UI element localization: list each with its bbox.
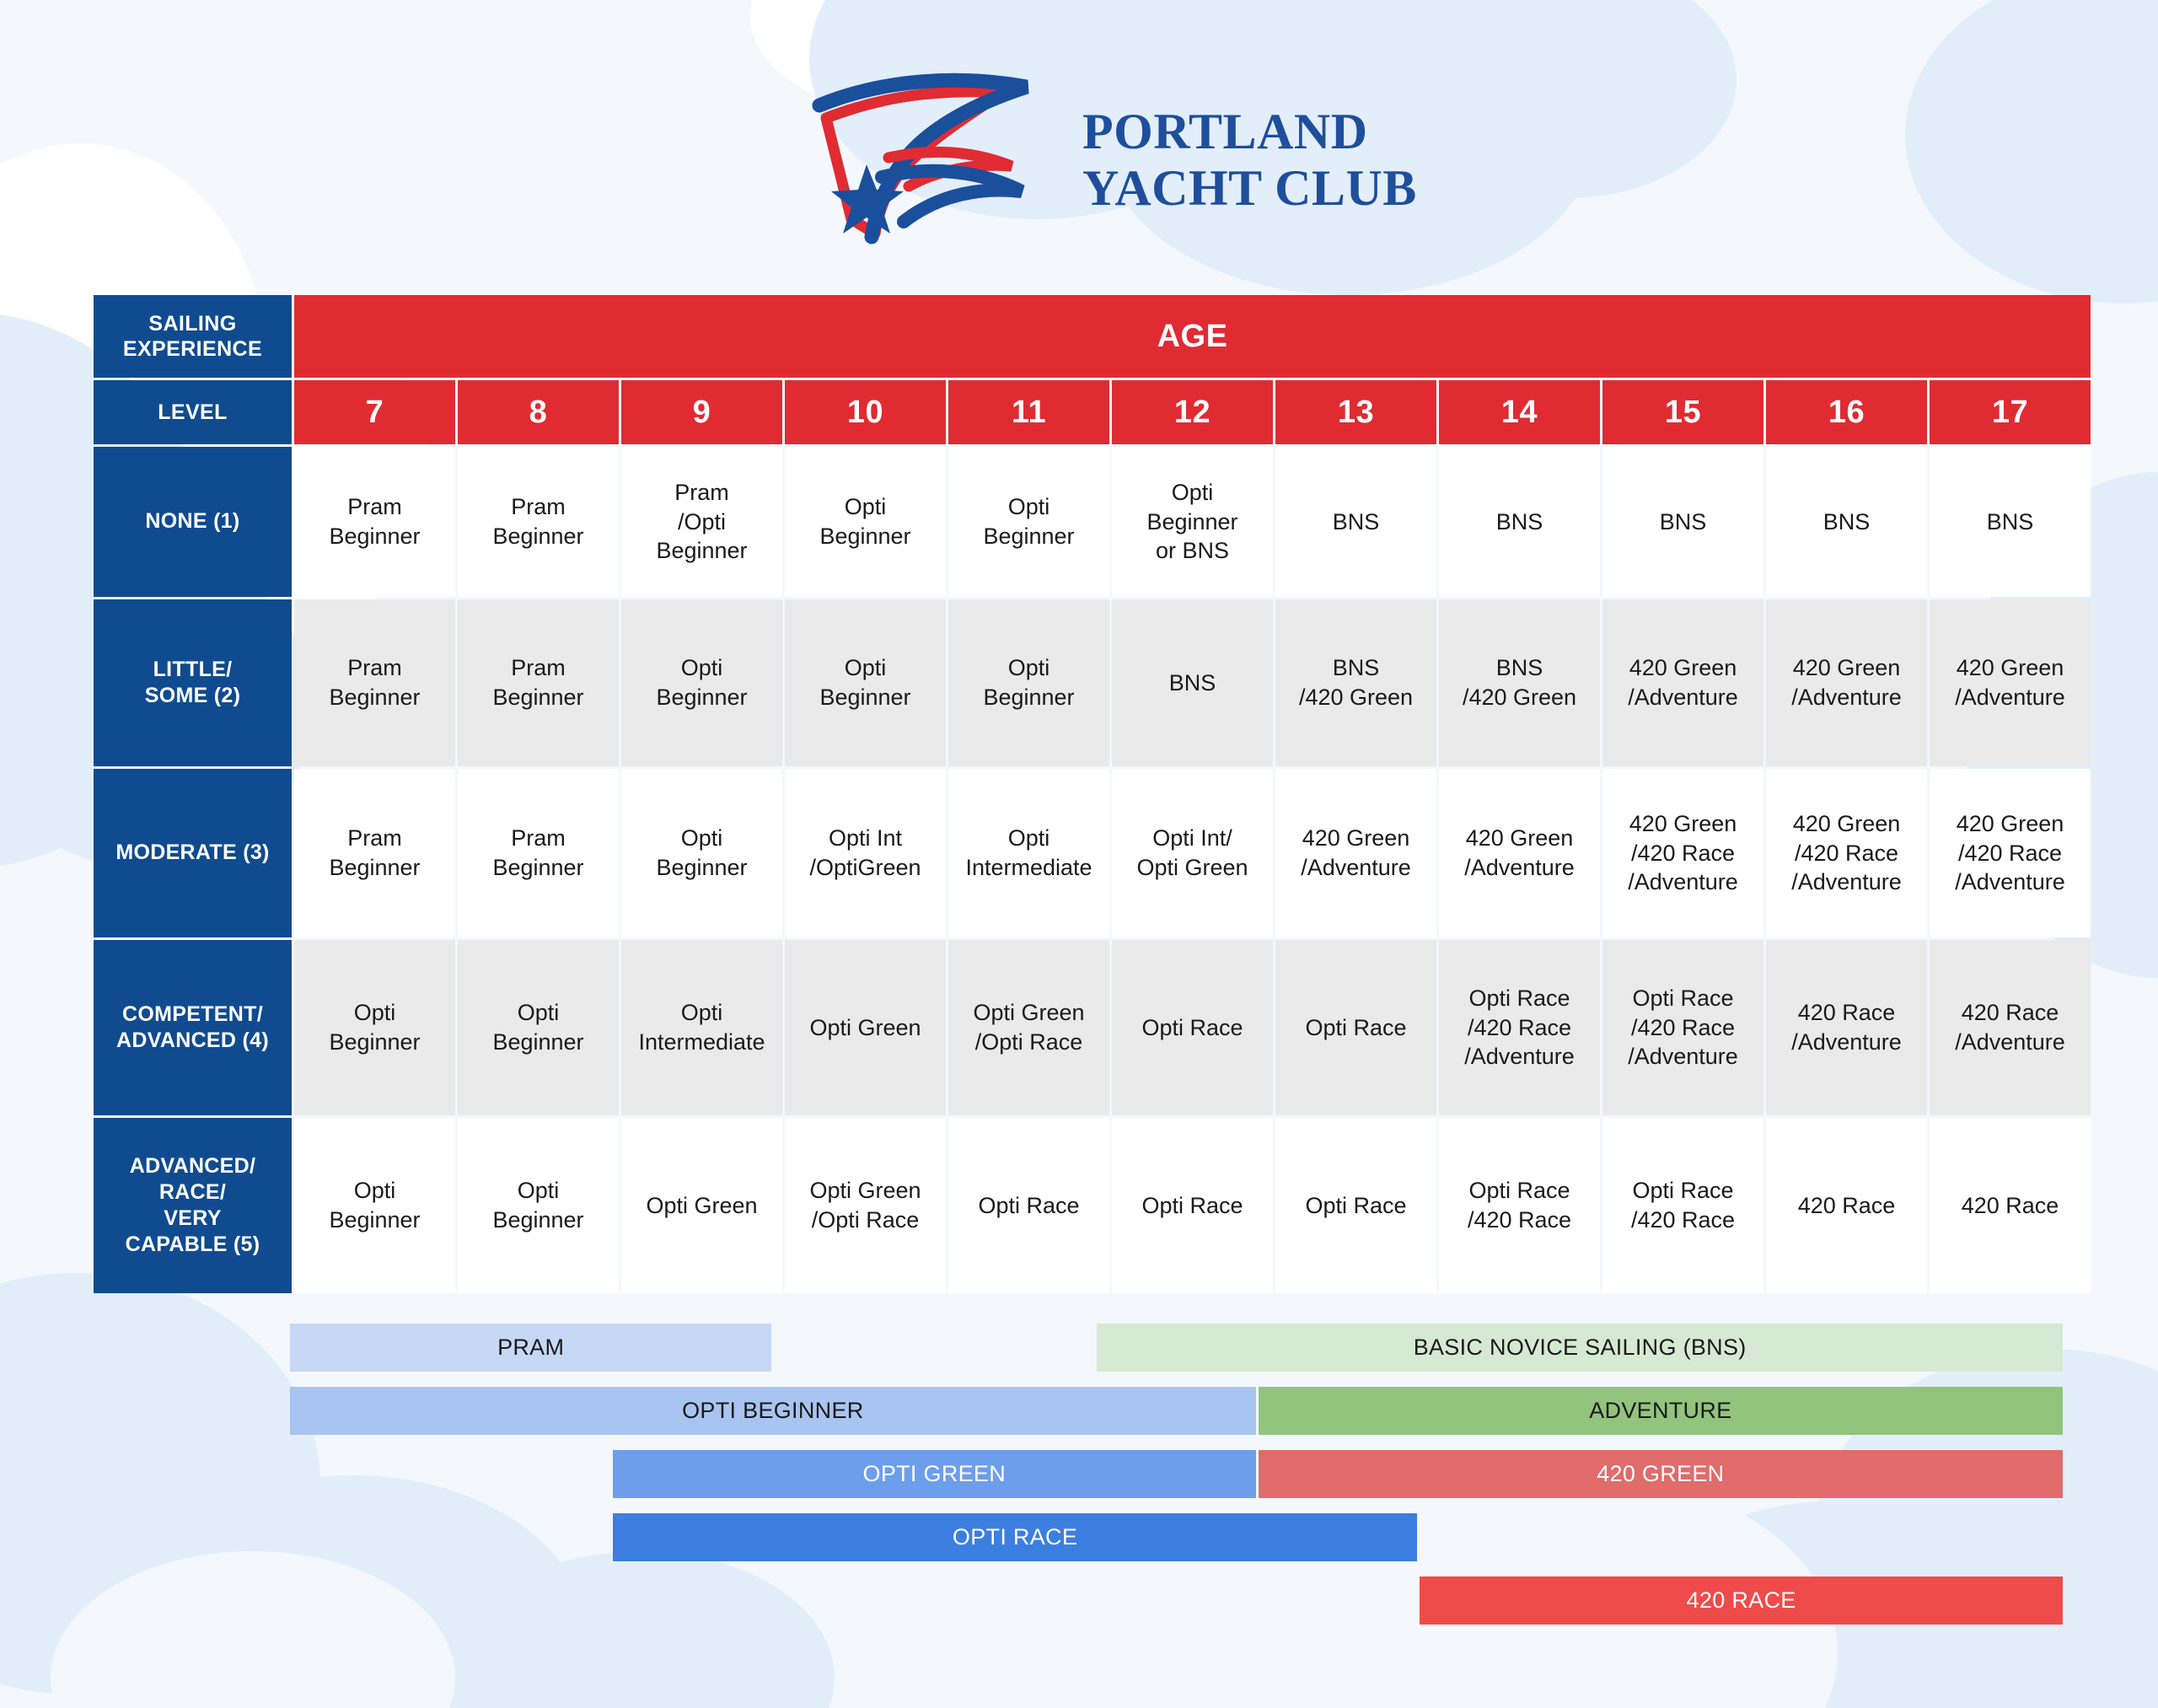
cell-line: Beginner [656, 855, 747, 880]
matrix-cell: Pram/OptiBeginner [621, 447, 782, 597]
cell-line: Opti Race [1632, 986, 1733, 1011]
age-header-17: 17 [1930, 380, 2091, 444]
legend-row: OPTI RACE [290, 1513, 2065, 1561]
matrix-cell: Opti Green/Opti Race [948, 940, 1109, 1115]
cell-line: Opti Race [1141, 1015, 1243, 1040]
matrix-cell: OptiIntermediate [948, 769, 1109, 937]
cell-line: 420 Race [1962, 1193, 2059, 1218]
cell-line: Opti Race [1141, 1193, 1243, 1218]
cell-line: /420 Race [1631, 1207, 1735, 1233]
corner-header-sailing-experience: SAILING EXPERIENCE [94, 295, 292, 378]
cell-line: Opti Int/ [1152, 825, 1232, 851]
matrix-cell: Opti Green [785, 940, 946, 1115]
cell-line: Opti [1008, 494, 1050, 519]
cell-line: Opti Green [1136, 855, 1248, 880]
brand-name-line-1: PORTLAND [1082, 104, 1417, 160]
cell-line: /Adventure [1955, 1029, 2065, 1055]
cell-line: BNS [1987, 509, 2034, 534]
cell-line: 420 Race [1962, 1000, 2059, 1025]
cell-line: /420 Race [1468, 1207, 1571, 1233]
corner-header-line-1: SAILING [148, 312, 236, 336]
legend-bar-opti-beginner: OPTI BEGINNER [290, 1387, 1256, 1435]
table-row: NONE (1)PramBeginnerPramBeginnerPram/Opt… [94, 447, 2091, 597]
brand-header: PORTLAND YACHT CLUB [801, 72, 1417, 249]
matrix-cell: BNS/420 Green [1439, 599, 1600, 766]
matrix-cell: OptiIntermediate [621, 940, 782, 1115]
matrix-cell: Opti Race/420 Race [1439, 1118, 1600, 1293]
cell-line: Beginner [492, 1207, 583, 1233]
cell-line: 420 Green [1957, 811, 2064, 836]
label-line: ADVANCED (4) [116, 1029, 269, 1052]
cell-line: Opti [1008, 655, 1050, 680]
cell-line: Opti [681, 1000, 723, 1025]
cell-line: Opti [845, 655, 887, 680]
brand-name-line-2: YACHT CLUB [1082, 160, 1417, 217]
matrix-cell: Opti Int/Opti Green [1112, 769, 1273, 937]
cell-line: /Adventure [1628, 685, 1738, 710]
cell-line: BNS [1660, 509, 1707, 534]
cell-line: 420 Green [1957, 655, 2064, 680]
table-row: ADVANCED/RACE/VERYCAPABLE (5)OptiBeginne… [94, 1118, 2091, 1293]
cell-line: 420 Green [1629, 655, 1737, 680]
cell-line: 420 Green [1302, 825, 1410, 851]
matrix-cell: PramBeginner [458, 447, 619, 597]
cell-line: Pram [347, 494, 402, 519]
matrix-cell: 420 Green/420 Race/Adventure [1602, 769, 1763, 937]
cell-line: /420 Race [1631, 1015, 1735, 1040]
matrix-cell: PramBeginner [458, 769, 619, 937]
legend-bar-label: PRAM [497, 1335, 564, 1361]
cell-line: Opti Race [1468, 986, 1570, 1011]
cell-line: /Adventure [1628, 869, 1738, 894]
cell-line: /420 Race [1631, 841, 1735, 866]
cell-line: /Adventure [1464, 1044, 1575, 1069]
cell-line: Opti Race [978, 1193, 1079, 1218]
burgee-flag-star-logo-icon [801, 72, 1054, 249]
cell-line: Pram [511, 655, 566, 680]
matrix-cell: Opti Race [1275, 940, 1436, 1115]
matrix-cell: BNS [1930, 447, 2091, 597]
matrix-cell: BNS [1112, 599, 1273, 766]
matrix-cell: Opti Green/Opti Race [785, 1118, 946, 1293]
matrix-cell: 420 Race/Adventure [1766, 940, 1927, 1115]
cell-line: Beginner [329, 685, 420, 710]
legend-bar-label: BASIC NOVICE SAILING (BNS) [1414, 1335, 1747, 1361]
cell-line: /420 Race [1795, 841, 1898, 866]
age-header-12: 12 [1112, 380, 1273, 444]
matrix-cell: 420 Green/Adventure [1275, 769, 1436, 937]
matrix-cell: OptiBeginner [948, 447, 1109, 597]
age-header-14: 14 [1439, 380, 1600, 444]
matrix-cell: OptiBeginner [785, 599, 946, 766]
matrix-cell: PramBeginner [294, 447, 455, 597]
cell-line: Beginner [329, 855, 420, 880]
experience-level-label: ADVANCED/RACE/VERYCAPABLE (5) [94, 1118, 292, 1293]
age-group-header: AGE [294, 295, 2091, 378]
cell-line: Opti Race [1305, 1193, 1406, 1218]
matrix-cell: OptiBeginner [458, 1118, 619, 1293]
experience-level-label: MODERATE (3) [94, 769, 292, 937]
cell-line: Beginner [492, 685, 583, 710]
cell-line: /420 Race [1468, 1015, 1571, 1040]
matrix-cell: 420 Green/Adventure [1602, 599, 1763, 766]
matrix-cell: Opti Race [1275, 1118, 1436, 1293]
cell-line: BNS [1333, 509, 1380, 534]
label-line: VERY [164, 1206, 221, 1230]
cell-line: BNS [1496, 655, 1543, 680]
cell-line: /420 Green [1463, 685, 1576, 710]
cell-line: Opti Int [829, 825, 902, 851]
matrix-cell: OptiBeginner [294, 940, 455, 1115]
header-row-age: SAILING EXPERIENCE AGE [94, 295, 2091, 378]
matrix-cell: OptiBeginner [948, 599, 1109, 766]
cell-line: Opti [518, 1178, 560, 1203]
cell-line: Beginner [329, 1207, 420, 1233]
matrix-cell: Opti Race [1112, 940, 1273, 1115]
matrix-cell: BNS [1439, 447, 1600, 597]
cell-line: 420 Green [1793, 655, 1901, 680]
cell-line: 420 Green [1629, 811, 1737, 836]
legend-row: OPTI BEGINNERADVENTURE [290, 1387, 2065, 1435]
cell-line: Opti [845, 494, 887, 519]
legend-row: 420 RACE [290, 1576, 2065, 1625]
cell-line: Opti [354, 1000, 396, 1025]
table-row: LITTLE/SOME (2)PramBeginnerPramBeginnerO… [94, 599, 2091, 766]
legend-bar-opti-green: OPTI GREEN [613, 1450, 1256, 1498]
experience-level-label: COMPETENT/ADVANCED (4) [94, 940, 292, 1115]
cell-line: Beginner [656, 538, 747, 563]
matrix-cell: OptiBeginner [458, 940, 619, 1115]
cell-line: Beginner [329, 1029, 420, 1055]
cell-line: BNS [1333, 655, 1380, 680]
cell-line: /Adventure [1301, 855, 1411, 880]
matrix-cell: Opti Race/420 Race/Adventure [1602, 940, 1763, 1115]
matrix-cell: OptiBeginner [785, 447, 946, 597]
table-row: MODERATE (3)PramBeginnerPramBeginnerOpti… [94, 769, 2091, 937]
legend-bar-label: OPTI BEGINNER [682, 1398, 863, 1424]
cell-line: Pram [674, 480, 729, 505]
cell-line: Beginner [983, 685, 1074, 710]
matrix-cell: BNS [1602, 447, 1763, 597]
matrix-cell: PramBeginner [294, 769, 455, 937]
age-header-13: 13 [1275, 380, 1436, 444]
cell-line: Opti [1172, 480, 1214, 505]
matrix-cell: 420 Green/Adventure [1766, 599, 1927, 766]
cell-line: /Adventure [1955, 869, 2065, 894]
matrix-cell: Opti Int/OptiGreen [785, 769, 946, 937]
cell-line: Beginner [492, 524, 583, 549]
legend-bar-basic-novice-sailing-bns: BASIC NOVICE SAILING (BNS) [1097, 1324, 2063, 1372]
cell-line: Opti Race [1632, 1178, 1733, 1203]
cell-line: Opti [1008, 825, 1050, 851]
cell-line: /Adventure [1628, 1044, 1738, 1069]
experience-level-label: NONE (1) [94, 447, 292, 597]
matrix-cell: Opti Race/420 Race/Adventure [1439, 940, 1600, 1115]
cell-line: /Adventure [1464, 855, 1575, 880]
cell-line: 420 Green [1466, 825, 1574, 851]
matrix-cell: BNS/420 Green [1275, 599, 1436, 766]
age-header-16: 16 [1766, 380, 1927, 444]
legend-bar-420-race: 420 RACE [1420, 1576, 2063, 1625]
level-header: LEVEL [94, 380, 292, 444]
matrix-cell: OptiBeginneror BNS [1112, 447, 1273, 597]
cell-line: Opti Green [646, 1193, 757, 1218]
label-line: LITTLE/ [153, 658, 233, 681]
matrix-cell: OptiBeginner [621, 769, 782, 937]
age-header-8: 8 [458, 380, 619, 444]
label-line: NONE (1) [145, 509, 239, 533]
legend-row: PRAMBASIC NOVICE SAILING (BNS) [290, 1324, 2065, 1372]
cell-line: 420 Race [1798, 1000, 1896, 1025]
cell-line: Pram [511, 494, 566, 519]
cell-line: Pram [347, 655, 402, 680]
cell-line: Opti [354, 1178, 396, 1203]
cell-line: Opti Race [1305, 1015, 1406, 1040]
cell-line: BNS [1823, 509, 1871, 534]
cell-line: Beginner [819, 685, 910, 710]
legend-bar-420-green: 420 GREEN [1259, 1450, 2063, 1498]
matrix-cell: OptiBeginner [294, 1118, 455, 1293]
cell-line: Opti Race [1468, 1178, 1570, 1203]
cell-line: Beginner [983, 524, 1074, 549]
matrix-cell: Opti Race [1112, 1118, 1273, 1293]
cell-line: /420 Green [1299, 685, 1413, 710]
matrix-cell: Opti Green [621, 1118, 782, 1293]
table-row: COMPETENT/ADVANCED (4)OptiBeginnerOptiBe… [94, 940, 2091, 1115]
legend-bar-label: OPTI GREEN [863, 1461, 1007, 1487]
legend-bar-adventure: ADVENTURE [1259, 1387, 2063, 1435]
matrix-body: NONE (1)PramBeginnerPramBeginnerPram/Opt… [94, 447, 2091, 1293]
sailing-program-matrix: SAILING EXPERIENCE AGE LEVEL 78910111213… [91, 293, 2093, 1296]
legend-bar-pram: PRAM [290, 1324, 771, 1372]
cell-line: /Adventure [1791, 1029, 1902, 1055]
age-header-10: 10 [785, 380, 946, 444]
legend-bar-label: 420 GREEN [1597, 1461, 1724, 1487]
corner-header-line-2: EXPERIENCE [123, 337, 262, 361]
age-header-7: 7 [294, 380, 455, 444]
matrix-cell: PramBeginner [294, 599, 455, 766]
experience-level-label: LITTLE/SOME (2) [94, 599, 292, 766]
program-legend: PRAMBASIC NOVICE SAILING (BNS)OPTI BEGIN… [290, 1324, 2065, 1625]
cell-line: Opti [518, 1000, 560, 1025]
matrix-head: SAILING EXPERIENCE AGE LEVEL 78910111213… [94, 295, 2091, 444]
cell-line: Beginner [1146, 509, 1237, 534]
matrix-cell: Opti Race/420 Race [1602, 1118, 1763, 1293]
cell-line: 420 Green [1793, 811, 1901, 836]
label-line: COMPETENT/ [122, 1002, 263, 1026]
legend-bar-label: ADVENTURE [1589, 1398, 1731, 1424]
legend-bar-opti-race: OPTI RACE [613, 1513, 1417, 1561]
cell-line: Opti Green [809, 1178, 921, 1203]
cell-line: Beginner [329, 524, 420, 549]
cell-line: /Adventure [1955, 685, 2065, 710]
matrix-cell: 420 Green/Adventure [1930, 599, 2091, 766]
label-line: MODERATE (3) [115, 841, 269, 864]
matrix-cell: OptiBeginner [621, 599, 782, 766]
matrix-cell: 420 Race/Adventure [1930, 940, 2091, 1115]
matrix-cell: 420 Race [1930, 1118, 2091, 1293]
cell-line: /Opti [678, 509, 726, 534]
age-header-9: 9 [621, 380, 782, 444]
label-line: RACE/ [159, 1180, 226, 1204]
cell-line: 420 Race [1798, 1193, 1896, 1218]
cell-line: /420 Race [1958, 841, 2062, 866]
age-header-11: 11 [948, 380, 1109, 444]
cell-line: /Adventure [1791, 685, 1902, 710]
matrix-cell: BNS [1275, 447, 1436, 597]
cell-line: Beginner [656, 685, 747, 710]
label-line: SOME (2) [145, 684, 241, 707]
label-line: CAPABLE (5) [126, 1233, 260, 1256]
cell-line: /OptiGreen [809, 855, 921, 880]
cell-line: or BNS [1156, 538, 1229, 563]
header-row-level: LEVEL 7891011121314151617 [94, 380, 2091, 444]
cell-line: Beginner [492, 1029, 583, 1055]
matrix-cell: 420 Green/Adventure [1439, 769, 1600, 937]
matrix-cell: 420 Green/420 Race/Adventure [1930, 769, 2091, 937]
cell-line: Opti Green [809, 1015, 921, 1040]
cell-line: BNS [1496, 509, 1543, 534]
cell-line: Pram [511, 825, 566, 851]
cell-line: BNS [1169, 670, 1216, 696]
legend-bar-label: 420 RACE [1687, 1587, 1796, 1614]
cell-line: Opti [681, 825, 723, 851]
cell-line: Opti Green [973, 1000, 1084, 1025]
matrix-cell: Opti Race [948, 1118, 1109, 1293]
cell-line: Opti [681, 655, 723, 680]
matrix-cell: 420 Green/420 Race/Adventure [1766, 769, 1927, 937]
age-header-15: 15 [1602, 380, 1763, 444]
cell-line: /Opti Race [975, 1029, 1083, 1055]
cell-line: /Adventure [1791, 869, 1902, 894]
cell-line: Intermediate [638, 1029, 765, 1055]
cell-line: Beginner [819, 524, 910, 549]
cell-line: /Opti Race [812, 1207, 920, 1233]
matrix-cell: BNS [1766, 447, 1927, 597]
legend-bar-label: OPTI RACE [953, 1524, 1077, 1550]
matrix-cell: PramBeginner [458, 599, 619, 766]
label-line: ADVANCED/ [130, 1154, 255, 1178]
legend-row: OPTI GREEN420 GREEN [290, 1450, 2065, 1498]
cell-line: Beginner [492, 855, 583, 880]
cell-line: Pram [347, 825, 402, 851]
cell-line: Intermediate [965, 855, 1092, 880]
matrix-cell: 420 Race [1766, 1118, 1927, 1293]
